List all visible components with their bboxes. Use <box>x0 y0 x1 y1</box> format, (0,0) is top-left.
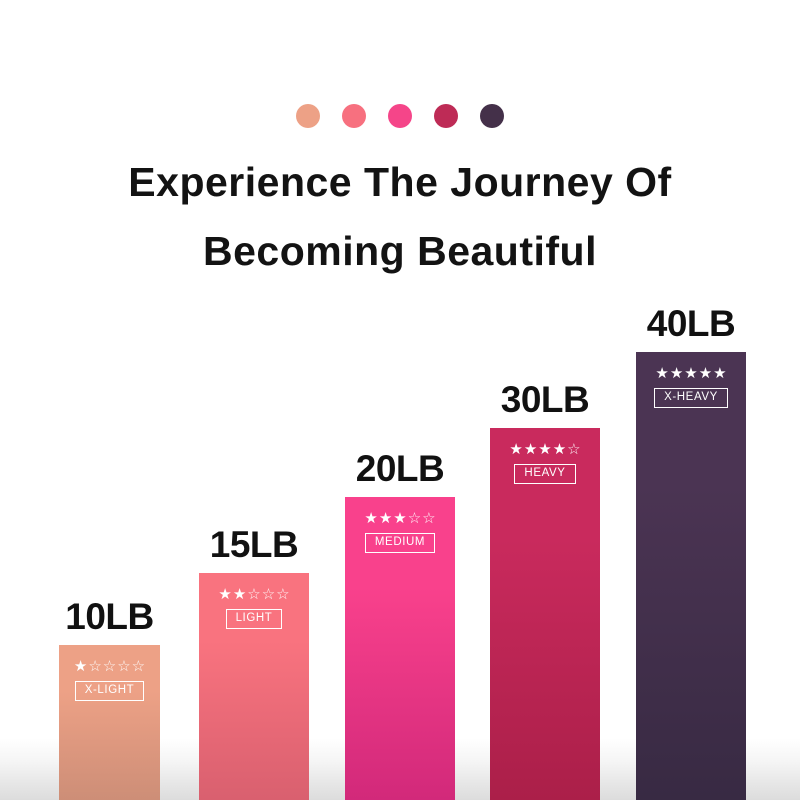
star-empty-icon: ☆ <box>103 659 116 674</box>
headline-line-2: Becoming Beautiful <box>0 217 800 286</box>
bar-content: ★★★☆☆MEDIUM <box>345 497 455 553</box>
star-rating: ★★★★★ <box>655 366 726 381</box>
star-rating: ★★★★☆ <box>509 442 580 457</box>
bar-content: ★★★★★X-HEAVY <box>636 352 746 408</box>
resistance-tag: LIGHT <box>226 609 283 629</box>
star-empty-icon: ☆ <box>132 659 145 674</box>
resistance-tag: MEDIUM <box>365 533 435 553</box>
dot-x-light <box>296 104 320 128</box>
star-filled-icon: ★ <box>524 442 537 457</box>
headline-block: Experience The Journey Of Becoming Beaut… <box>0 148 800 286</box>
bar-value-label: 10LB <box>65 598 153 635</box>
star-rating: ★★★☆☆ <box>364 511 435 526</box>
star-rating: ★☆☆☆☆ <box>74 659 145 674</box>
bar-content: ★☆☆☆☆X-LIGHT <box>59 645 160 701</box>
star-filled-icon: ★ <box>670 366 683 381</box>
bar-group-30lb[interactable]: 30LB★★★★☆HEAVY <box>490 428 600 800</box>
star-filled-icon: ★ <box>538 442 551 457</box>
star-empty-icon: ☆ <box>117 659 130 674</box>
star-rating: ★★☆☆☆ <box>218 587 289 602</box>
bar-value-label: 15LB <box>210 526 298 563</box>
dot-x-heavy <box>480 104 504 128</box>
bar-value-label: 30LB <box>501 381 589 418</box>
star-empty-icon: ☆ <box>567 442 580 457</box>
resistance-tag: X-LIGHT <box>75 681 145 701</box>
star-filled-icon: ★ <box>74 659 87 674</box>
star-empty-icon: ☆ <box>422 511 435 526</box>
product-infographic: Experience The Journey Of Becoming Beaut… <box>0 0 800 800</box>
bar-fill: ★★★☆☆MEDIUM <box>345 497 455 800</box>
star-filled-icon: ★ <box>233 587 246 602</box>
bar-group-40lb[interactable]: 40LB★★★★★X-HEAVY <box>636 352 746 800</box>
star-filled-icon: ★ <box>699 366 712 381</box>
bar-content: ★★☆☆☆LIGHT <box>199 573 309 629</box>
bar-content: ★★★★☆HEAVY <box>490 428 600 484</box>
star-filled-icon: ★ <box>364 511 377 526</box>
bar-fill: ★★★★☆HEAVY <box>490 428 600 800</box>
star-filled-icon: ★ <box>218 587 231 602</box>
star-filled-icon: ★ <box>393 511 406 526</box>
star-empty-icon: ☆ <box>276 587 289 602</box>
bar-group-20lb[interactable]: 20LB★★★☆☆MEDIUM <box>345 497 455 800</box>
resistance-tag: HEAVY <box>514 464 575 484</box>
dot-light <box>342 104 366 128</box>
bar-fill: ★★☆☆☆LIGHT <box>199 573 309 800</box>
star-empty-icon: ☆ <box>88 659 101 674</box>
bar-fill: ★★★★★X-HEAVY <box>636 352 746 800</box>
star-filled-icon: ★ <box>713 366 726 381</box>
star-empty-icon: ☆ <box>247 587 260 602</box>
star-filled-icon: ★ <box>553 442 566 457</box>
bar-group-15lb[interactable]: 15LB★★☆☆☆LIGHT <box>199 573 309 800</box>
star-filled-icon: ★ <box>684 366 697 381</box>
star-filled-icon: ★ <box>655 366 668 381</box>
star-filled-icon: ★ <box>379 511 392 526</box>
bar-value-label: 20LB <box>356 450 444 487</box>
dot-medium <box>388 104 412 128</box>
bar-group-10lb[interactable]: 10LB★☆☆☆☆X-LIGHT <box>59 645 160 800</box>
bar-value-label: 40LB <box>647 305 735 342</box>
dot-heavy <box>434 104 458 128</box>
star-empty-icon: ☆ <box>262 587 275 602</box>
resistance-tag: X-HEAVY <box>654 388 728 408</box>
color-dots-row <box>0 104 800 128</box>
bar-fill: ★☆☆☆☆X-LIGHT <box>59 645 160 800</box>
headline-line-1: Experience The Journey Of <box>0 148 800 217</box>
star-filled-icon: ★ <box>509 442 522 457</box>
star-empty-icon: ☆ <box>408 511 421 526</box>
